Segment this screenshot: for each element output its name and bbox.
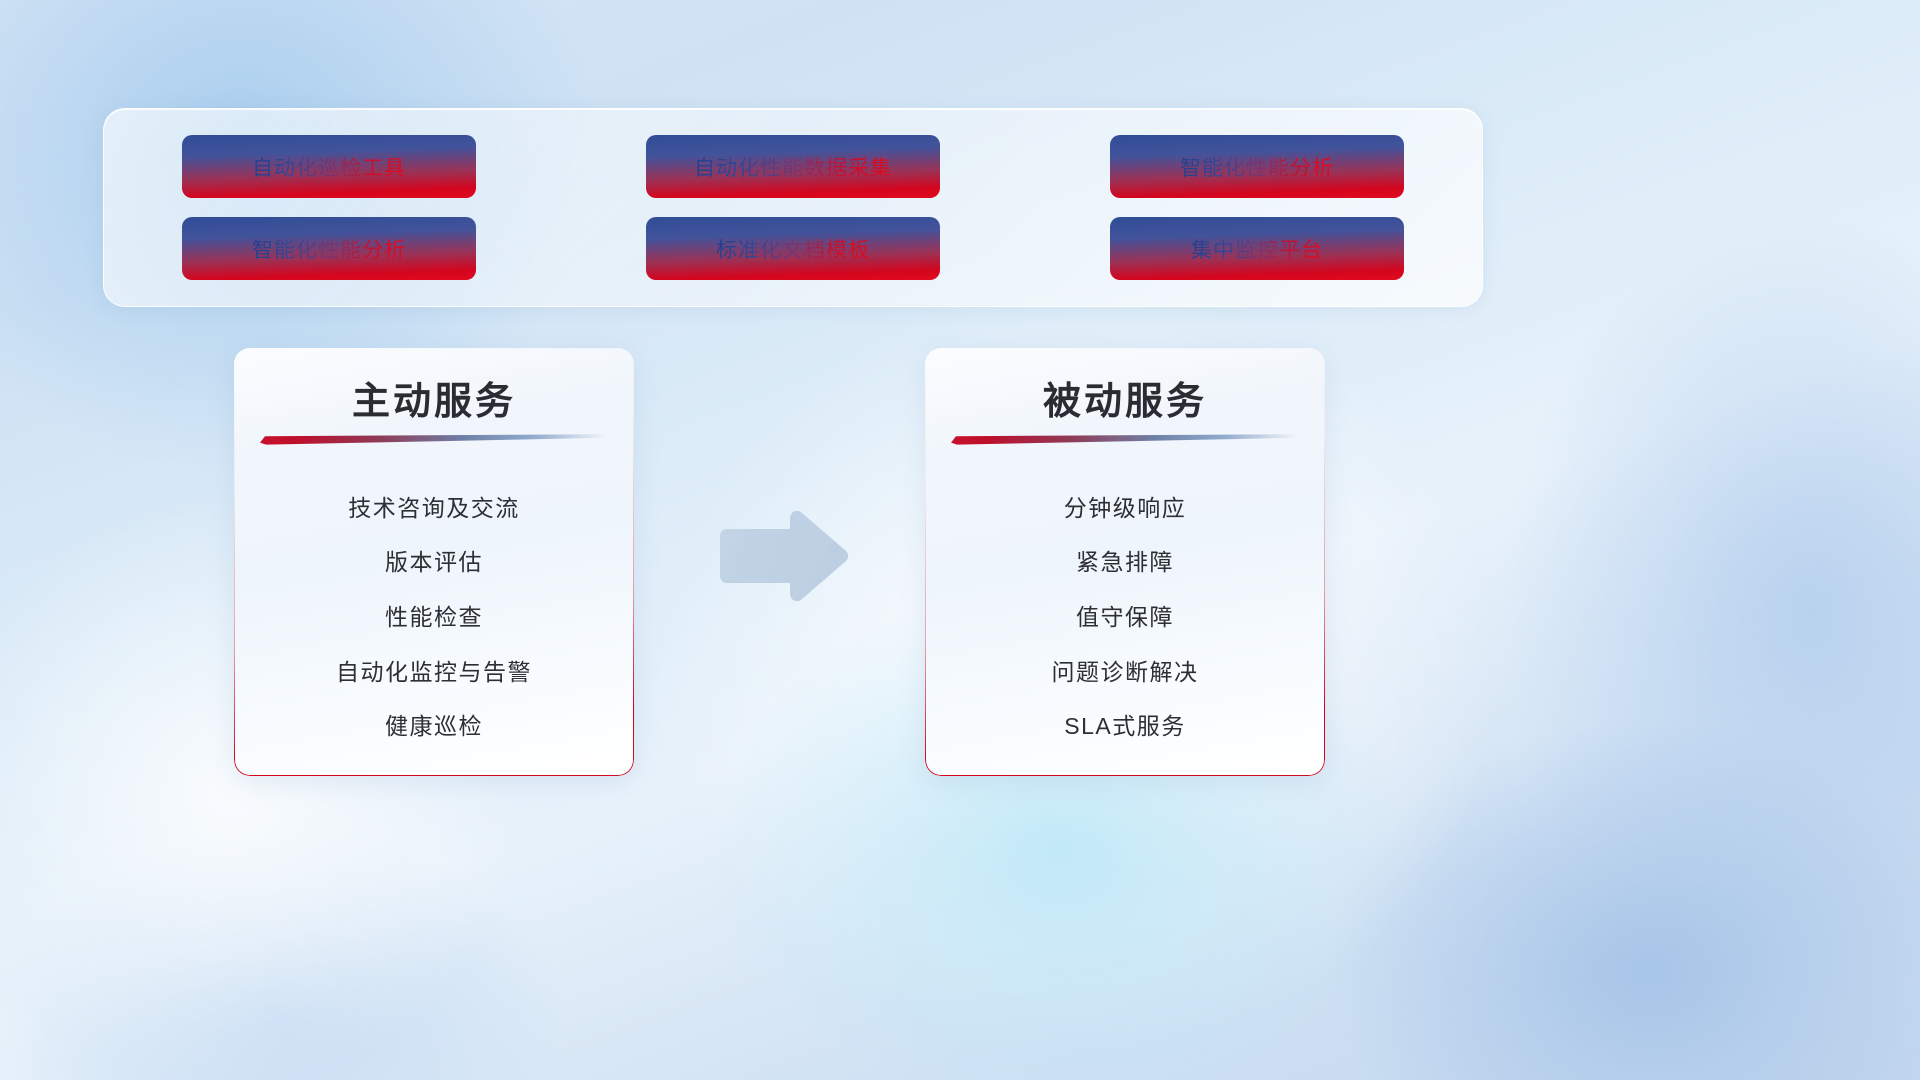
- service-item-list: 技术咨询及交流 版本评估 性能检查 自动化监控与告警 健康巡检: [234, 468, 634, 762]
- capability-panel: 自动化巡检工具 自动化性能数据采集 智能化性能分析 智能化性能分析 标准化文档模…: [103, 108, 1483, 307]
- slide-canvas: 自动化巡检工具 自动化性能数据采集 智能化性能分析 智能化性能分析 标准化文档模…: [0, 0, 1920, 1080]
- background-glow-bottom-left: [0, 760, 680, 1080]
- service-card-reactive: 被动服务 分钟级响应 紧急排障 值守保障 问题诊断解决 SLA式服务: [925, 348, 1325, 776]
- card-title: 主动服务: [234, 370, 634, 425]
- capability-pill-1[interactable]: 自动化巡检工具: [184, 137, 474, 197]
- capability-pill-label: 集中监控平台: [1191, 234, 1323, 264]
- service-item: 健康巡检: [385, 707, 483, 741]
- capability-pill-label: 自动化巡检工具: [252, 152, 406, 182]
- capability-pill-2[interactable]: 自动化性能数据采集: [648, 137, 938, 197]
- capability-pill-3[interactable]: 智能化性能分析: [1112, 137, 1402, 197]
- capability-pill-label: 自动化性能数据采集: [694, 152, 892, 182]
- service-item: 紧急排障: [1076, 543, 1174, 577]
- capability-pill-5[interactable]: 标准化文档模板: [648, 219, 938, 279]
- capability-pill-label: 智能化性能分析: [1180, 152, 1334, 182]
- card-title: 被动服务: [925, 370, 1325, 425]
- capability-pill-6[interactable]: 集中监控平台: [1112, 219, 1402, 279]
- service-item: 值守保障: [1076, 598, 1174, 632]
- service-item: 技术咨询及交流: [348, 489, 520, 523]
- service-item: 问题诊断解决: [1052, 653, 1199, 687]
- service-item: 自动化监控与告警: [336, 653, 532, 687]
- capability-pill-label: 标准化文档模板: [716, 234, 870, 264]
- service-item: 分钟级响应: [1064, 489, 1187, 523]
- capability-pill-grid: 自动化巡检工具 自动化性能数据采集 智能化性能分析 智能化性能分析 标准化文档模…: [104, 109, 1482, 306]
- service-card-proactive: 主动服务 技术咨询及交流 版本评估 性能检查 自动化监控与告警 健康巡检: [234, 348, 634, 776]
- title-underline-gradient: [260, 434, 608, 445]
- service-item-list: 分钟级响应 紧急排障 值守保障 问题诊断解决 SLA式服务: [925, 468, 1325, 762]
- title-underline-gradient: [951, 434, 1299, 445]
- service-item: SLA式服务: [1064, 707, 1185, 741]
- service-item: 性能检查: [385, 598, 483, 632]
- service-item: 版本评估: [385, 543, 483, 577]
- arrow-right-icon: [712, 505, 852, 607]
- capability-pill-label: 智能化性能分析: [252, 234, 406, 264]
- capability-pill-4[interactable]: 智能化性能分析: [184, 219, 474, 279]
